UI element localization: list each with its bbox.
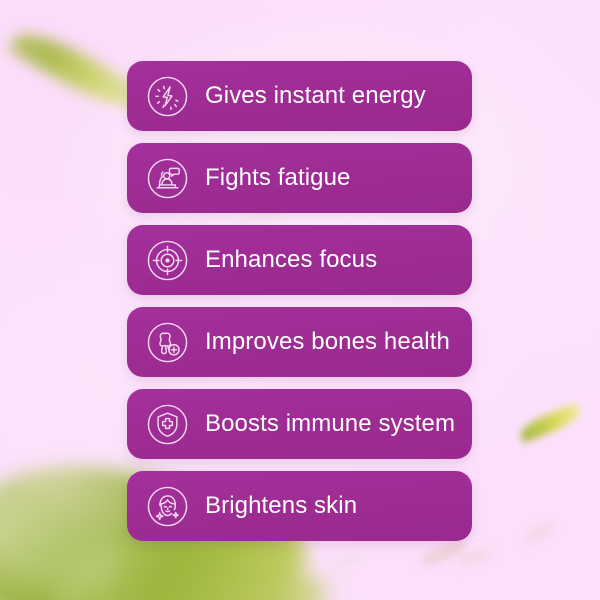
benefit-label: Gives instant energy	[205, 84, 426, 108]
benefit-item-fights-fatigue[interactable]: Fights fatigue	[127, 143, 472, 213]
benefit-item-brightens-skin[interactable]: Brightens skin	[127, 471, 472, 541]
benefit-item-immune-system[interactable]: Boosts immune system	[127, 389, 472, 459]
benefit-item-enhances-focus[interactable]: Enhances focus	[127, 225, 472, 295]
tired-person-desk-icon	[146, 157, 189, 200]
benefits-poster: Gives instant energy Fights fatigue	[0, 0, 600, 600]
target-crosshair-icon	[146, 239, 189, 282]
benefit-label: Brightens skin	[205, 494, 357, 518]
shield-plus-icon	[146, 403, 189, 446]
benefit-item-instant-energy[interactable]: Gives instant energy	[127, 61, 472, 131]
benefits-list: Gives instant energy Fights fatigue	[127, 61, 472, 541]
benefit-item-bones-health[interactable]: Improves bones health	[127, 307, 472, 377]
benefit-label: Improves bones health	[205, 330, 450, 354]
benefit-label: Boosts immune system	[205, 412, 455, 436]
benefit-label: Fights fatigue	[205, 166, 350, 190]
glowing-face-icon	[146, 485, 189, 528]
lightning-bolt-icon	[146, 75, 189, 118]
benefit-label: Enhances focus	[205, 248, 377, 272]
bone-joint-plus-icon	[146, 321, 189, 364]
